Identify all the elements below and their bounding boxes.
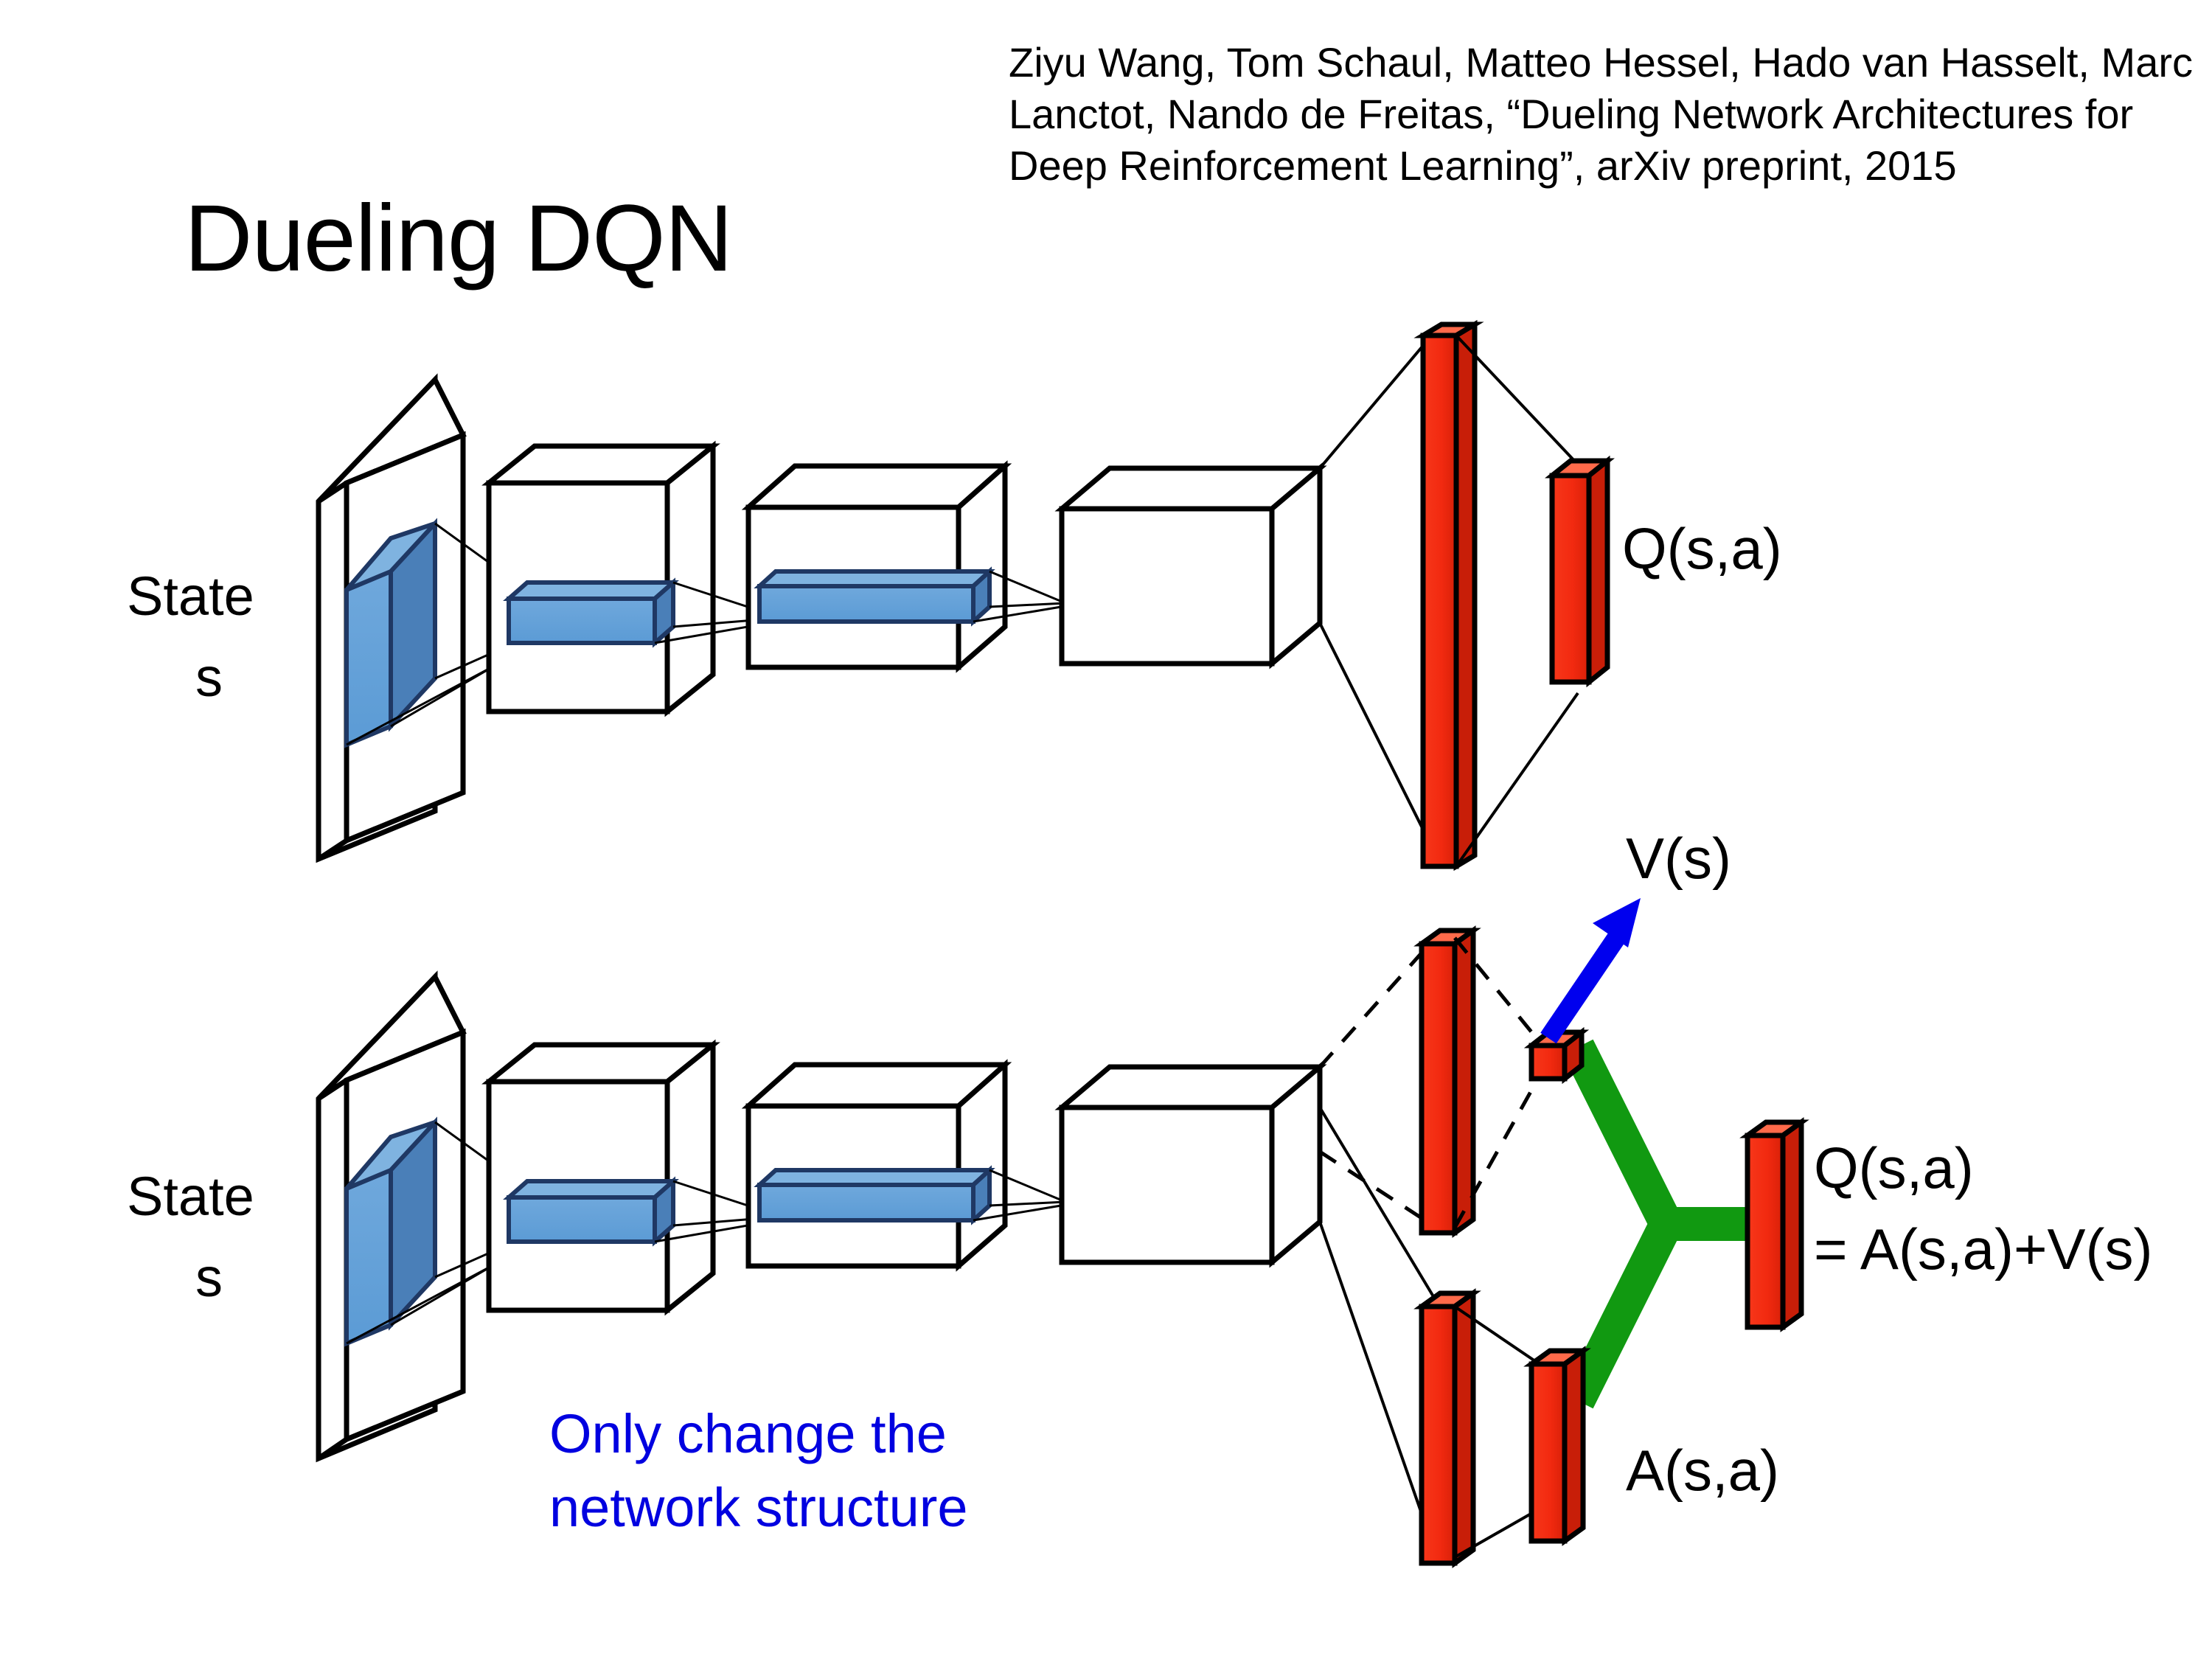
advantage-stream-bar — [1422, 1293, 1473, 1563]
annotation-note: Only change thenetwork structure — [549, 1397, 968, 1545]
advantage-function-label: A(s,a) — [1626, 1438, 1779, 1504]
output-q-bar-top — [1552, 461, 1607, 682]
q-decomposition-formula: = A(s,a)+V(s) — [1814, 1217, 2152, 1283]
feature-bar-2-bottom — [759, 1170, 990, 1220]
output-q-bar-bottom — [1747, 1122, 1801, 1327]
q-value-label-top: Q(s,a) — [1622, 516, 1782, 582]
conv-block-3-top — [1062, 468, 1320, 664]
conv-block-1-top — [489, 446, 713, 712]
feature-bar-1-bottom — [509, 1181, 673, 1242]
note-line-1: Only change the — [549, 1403, 947, 1464]
value-function-label: V(s) — [1626, 826, 1731, 892]
advantage-stream-connections — [1320, 1107, 1436, 1556]
value-arrow-icon — [1548, 898, 1641, 1038]
conv-block-1-bottom — [489, 1045, 713, 1310]
dueling-dqn-network — [319, 898, 1801, 1563]
paper-citation: Ziyu Wang, Tom Schaul, Matteo Hessel, Ha… — [1009, 37, 2203, 192]
state-label-top: State — [127, 565, 254, 627]
slide-canvas: Dueling DQN Ziyu Wang, Tom Schaul, Matte… — [0, 0, 2212, 1659]
standard-dqn-network — [319, 324, 1607, 866]
feature-bar-1-top — [509, 582, 673, 643]
q-value-label-bottom: Q(s,a) — [1814, 1135, 1974, 1202]
state-symbol-bottom: s — [195, 1246, 223, 1309]
state-label-bottom: State — [127, 1165, 254, 1228]
value-stream-bar — [1422, 931, 1473, 1233]
aggregation-connector — [1578, 1047, 1759, 1401]
note-line-2: network structure — [549, 1477, 968, 1538]
conv-block-3-bottom — [1062, 1067, 1320, 1262]
connection-fan-4-top — [1320, 328, 1438, 859]
state-symbol-top: s — [195, 646, 223, 709]
conv-block-2-top — [748, 466, 1005, 667]
feature-bar-2-top — [759, 571, 990, 622]
value-stream-connections — [1320, 936, 1436, 1228]
advantage-output-bar — [1531, 1351, 1583, 1541]
page-title: Dueling DQN — [184, 184, 732, 293]
fc-layer-bar-top — [1423, 324, 1475, 866]
conv-block-2-bottom — [748, 1065, 1005, 1266]
